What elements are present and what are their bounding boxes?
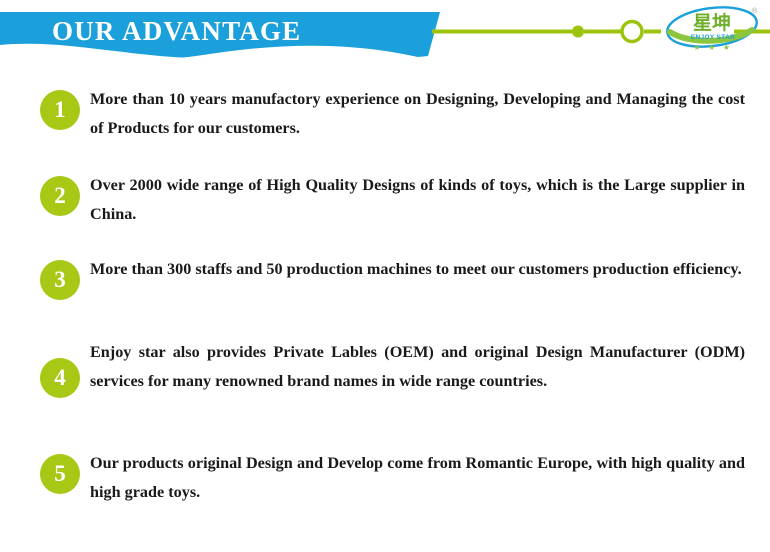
logo-chinese-text: 星坤 [693, 11, 731, 34]
advantage-number-badge-1: 1 [40, 90, 80, 130]
logo-stars-icon: ★ ★ ★ [693, 43, 732, 52]
page-title: OUR ADVANTAGE [52, 16, 392, 47]
logo-artwork: 星坤 ENJOY STAR ® ★ ★ ★ [660, 2, 764, 54]
advantage-number-badge-2: 2 [40, 176, 80, 216]
advantage-text-1: More than 10 years manufactory experienc… [90, 85, 745, 143]
advantage-number-badge-4: 4 [40, 358, 80, 398]
divider-dot [572, 26, 584, 38]
logo-latin-text: ENJOY STAR [691, 34, 735, 41]
enjoy-star-logo[interactable]: 星坤 ENJOY STAR ® ★ ★ ★ [660, 2, 764, 54]
divider-ring [622, 22, 642, 42]
advantage-text-4: Enjoy star also provides Private Lables … [90, 338, 745, 396]
advantage-text-5: Our products original Design and Develop… [90, 449, 745, 507]
advantage-text-2: Over 2000 wide range of High Quality Des… [90, 171, 745, 229]
advantage-number-badge-5: 5 [40, 454, 80, 494]
advantage-number-badge-3: 3 [40, 260, 80, 300]
page-header: OUR ADVANTAGE 星坤 ENJOY STAR ® ★ ★ ★ [0, 0, 770, 66]
advantage-text-3: More than 300 staffs and 50 production m… [90, 255, 745, 284]
registered-trademark-icon: ® [752, 7, 758, 15]
